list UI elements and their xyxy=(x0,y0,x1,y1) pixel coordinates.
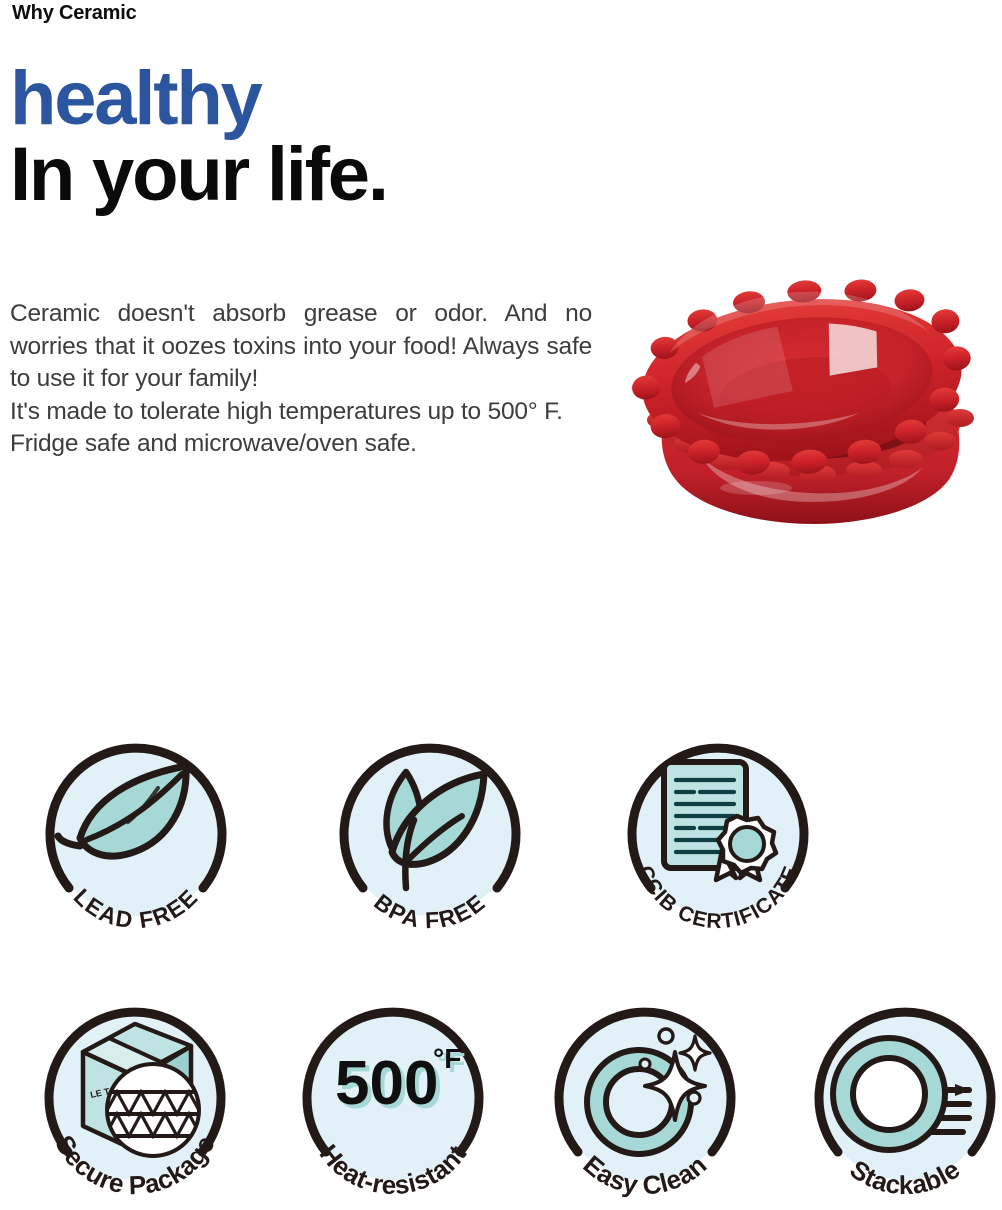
body-paragraph-2: It's made to tolerate high temperatures … xyxy=(10,396,592,461)
badge-secure-package[interactable]: LE TAUO Secure Package xyxy=(35,994,235,1210)
page-eyebrow: Why Ceramic xyxy=(12,2,137,25)
temperature-number: 500 xyxy=(335,1049,438,1118)
feature-badges: LEAD FREE BPA FREE xyxy=(0,722,1002,1198)
badge-bpa-free[interactable]: BPA FREE xyxy=(330,728,530,944)
corrugated-detail-icon xyxy=(105,1064,201,1156)
badge-lead-free[interactable]: LEAD FREE xyxy=(36,728,236,944)
body-copy: Ceramic doesn't absorb grease or odor. A… xyxy=(10,298,592,461)
body-paragraph-1: Ceramic doesn't absorb grease or odor. A… xyxy=(10,298,592,396)
badge-stackable[interactable]: Stackable xyxy=(805,994,1002,1210)
headline-accent: healthy xyxy=(10,62,387,136)
temperature-unit: °F xyxy=(433,1043,461,1074)
badge-heat-resistant[interactable]: 500 500 °F °F Heat-resistant xyxy=(293,994,493,1210)
headline-dark: In your life. xyxy=(10,138,387,212)
product-photo xyxy=(606,262,998,548)
page-title: healthy In your life. xyxy=(10,62,387,213)
badge-ccib-certificate[interactable]: CCIB CERTIFICATE xyxy=(618,728,818,944)
badge-easy-clean[interactable]: Easy Clean xyxy=(545,994,745,1210)
